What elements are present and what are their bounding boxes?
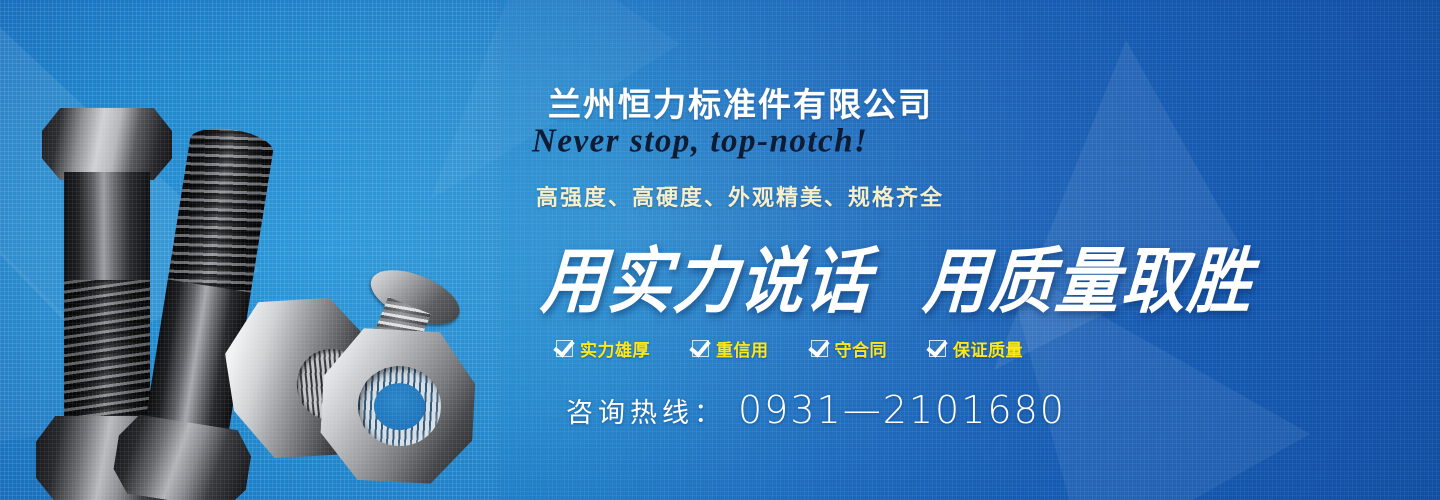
hex-nut-silver-front	[318, 326, 478, 486]
features-line: 高强度、高硬度、外观精美、规格齐全	[536, 180, 944, 212]
slogan-part-2: 用质量取胜	[920, 224, 1257, 327]
product-photo-fasteners	[0, 0, 500, 500]
check-icon	[692, 340, 709, 357]
trust-badge-label: 重信用	[716, 336, 769, 361]
english-tagline: Never stop, top-notch!	[532, 122, 868, 160]
trust-badge-label: 实力雄厚	[580, 336, 650, 361]
main-slogan: 用实力说话 用质量取胜	[542, 230, 1254, 322]
hotline: 咨询热线： 0931—2101680	[566, 388, 1066, 432]
trust-badges: 实力雄厚 重信用 守合同 保证质量	[556, 336, 1023, 361]
promo-banner: 兰州恒力标准件有限公司 Never stop, top-notch! 高强度、高…	[0, 0, 1440, 500]
bolt-shank	[64, 172, 150, 284]
slogan-part-1: 用实力说话	[538, 224, 875, 327]
bolt-thread	[167, 123, 275, 296]
banner-text-column: 兰州恒力标准件有限公司 Never stop, top-notch! 高强度、高…	[520, 0, 1280, 500]
trust-badge-3: 守合同	[811, 336, 888, 361]
bolt-head	[42, 108, 172, 180]
hotline-number: 0931—2101680	[738, 388, 1066, 432]
trust-badge-1: 实力雄厚	[556, 336, 650, 361]
check-icon	[556, 340, 573, 357]
trust-badge-label: 守合同	[835, 336, 888, 361]
trust-badge-label: 保证质量	[953, 336, 1023, 361]
check-icon	[929, 340, 946, 357]
trust-badge-4: 保证质量	[929, 336, 1023, 361]
hotline-label: 咨询热线：	[566, 391, 726, 430]
company-name: 兰州恒力标准件有限公司	[548, 78, 933, 126]
trust-badge-2: 重信用	[692, 336, 769, 361]
check-icon	[811, 340, 828, 357]
